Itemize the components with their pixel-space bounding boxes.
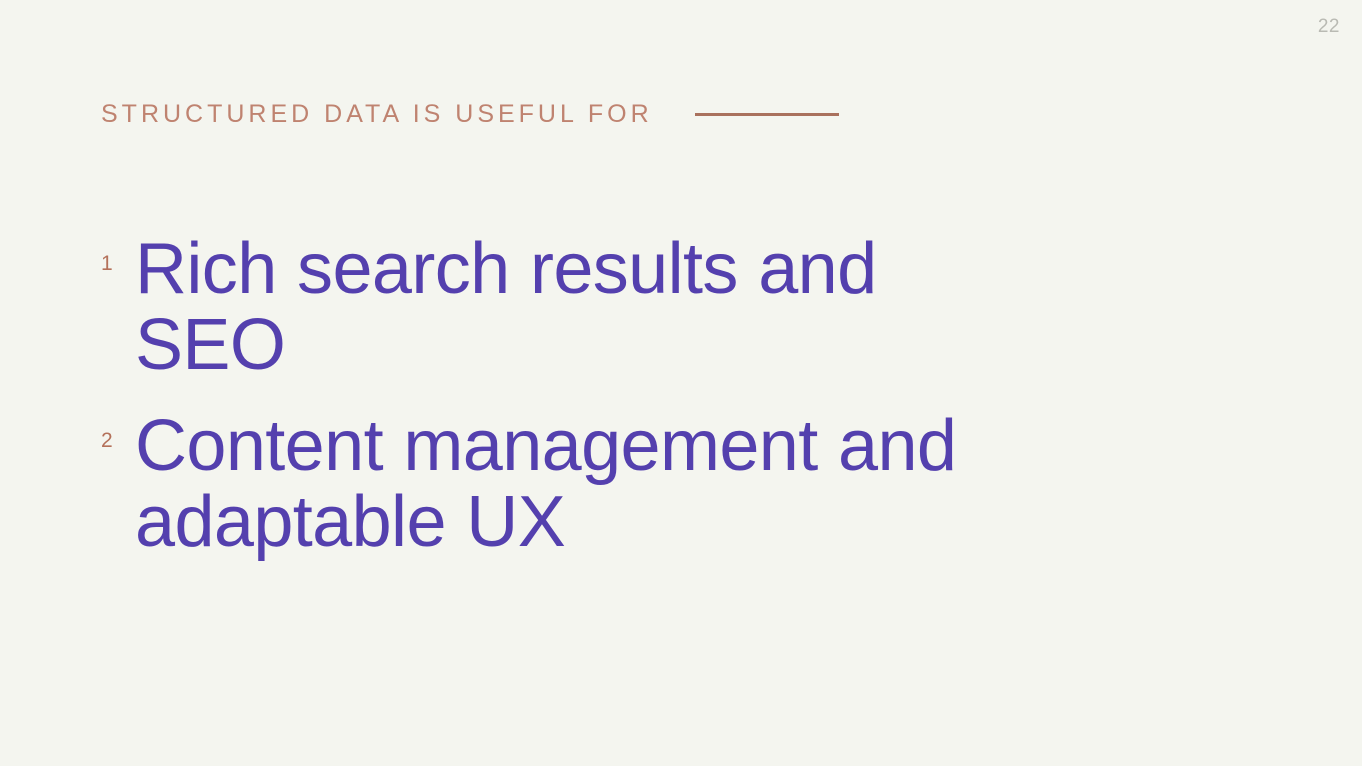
- list-item-number: 1: [101, 232, 135, 274]
- list-item-number: 2: [101, 409, 135, 451]
- eyebrow-title: STRUCTURED DATA IS USEFUL FOR: [101, 102, 653, 127]
- list-item-text: Rich search results and SEO: [135, 232, 995, 383]
- page-number: 22: [1318, 17, 1340, 36]
- list-item: 2 Content management and adaptable UX: [101, 409, 1101, 560]
- eyebrow-rule-divider: [695, 113, 839, 116]
- list-item: 1 Rich search results and SEO: [101, 232, 1101, 383]
- section-eyebrow: STRUCTURED DATA IS USEFUL FOR: [101, 97, 839, 131]
- list-item-text: Content management and adaptable UX: [135, 409, 995, 560]
- numbered-list: 1 Rich search results and SEO 2 Content …: [101, 232, 1101, 560]
- slide: 22 STRUCTURED DATA IS USEFUL FOR 1 Rich …: [0, 0, 1362, 766]
